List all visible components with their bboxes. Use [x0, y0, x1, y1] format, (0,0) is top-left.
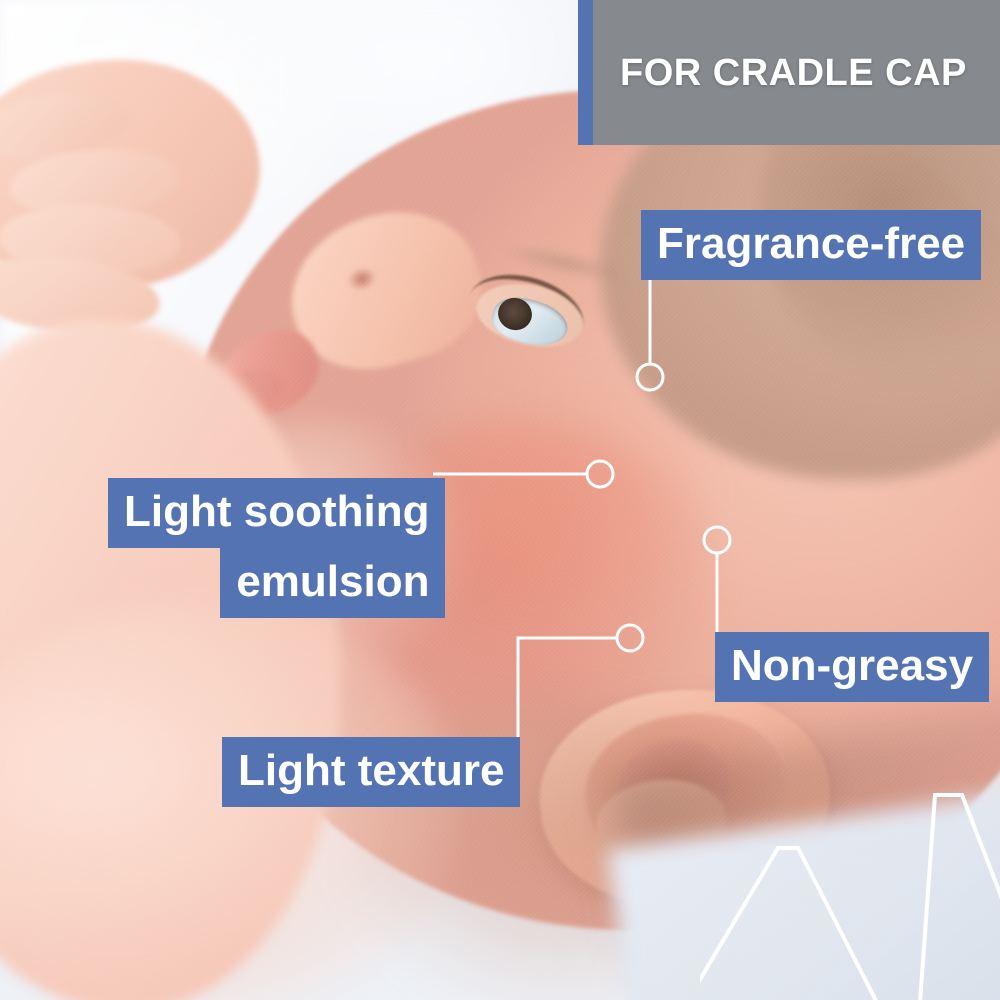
callout-light-soothing-emulsion: Light soothing emulsion — [108, 478, 445, 618]
header-accent-bar — [578, 0, 593, 145]
callout-fragrance-free: Fragrance-free — [641, 210, 981, 280]
callout-label-text: emulsion — [220, 548, 445, 618]
callout-light-texture: Light texture — [222, 737, 520, 807]
header-title: FOR CRADLE CAP — [620, 52, 967, 95]
callout-label-text: Light texture — [222, 737, 520, 807]
callout-label-text: Non-greasy — [715, 632, 989, 702]
callout-non-greasy: Non-greasy — [715, 632, 989, 702]
callout-label-text: Light soothing — [108, 478, 445, 548]
callout-label-text: Fragrance-free — [641, 210, 981, 280]
promotional-image: FOR CRADLE CAP Fragrance-free Light soot… — [0, 0, 1000, 1000]
